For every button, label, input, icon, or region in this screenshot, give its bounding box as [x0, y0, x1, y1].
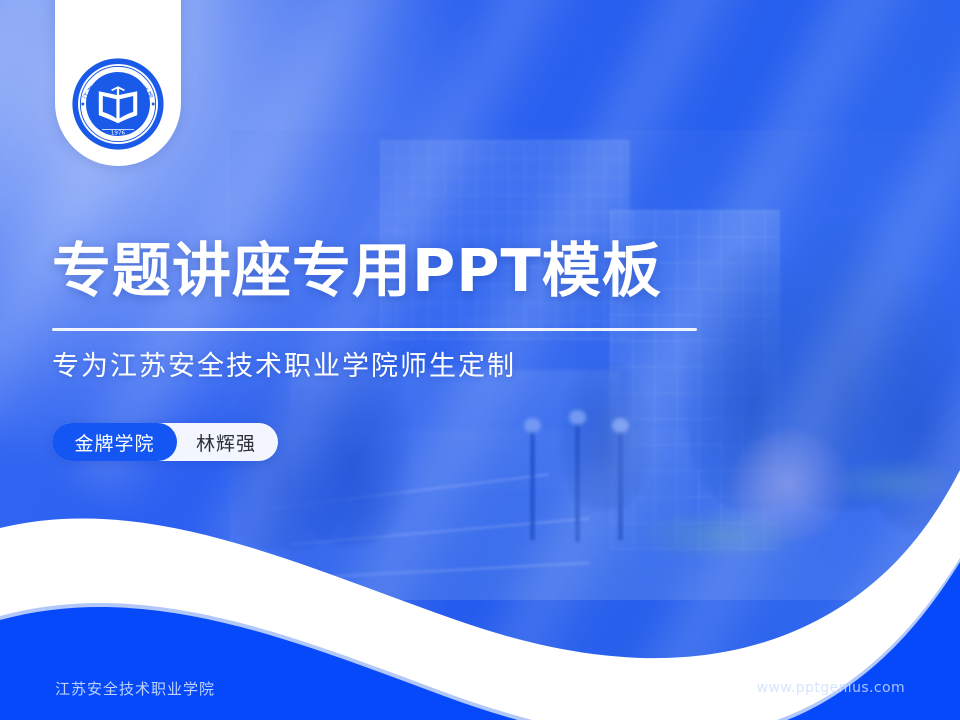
presentation-slide: 江苏安全技术职业学院 JIANGSU COLLEGE OF SAFETY TEC…: [0, 0, 960, 720]
school-logo-badge: 江苏安全技术职业学院 JIANGSU COLLEGE OF SAFETY TEC…: [55, 0, 181, 166]
footer-website-label: www.pptgenius.com: [757, 680, 905, 696]
page-subtitle: 专为江苏安全技术职业学院师生定制: [52, 344, 516, 383]
wave-decoration: [0, 430, 960, 720]
credit-badge: 金牌学院 林辉强: [52, 423, 278, 461]
page-title: 专题讲座专用PPT模板: [52, 240, 662, 303]
school-crest-icon: 江苏安全技术职业学院 JIANGSU COLLEGE OF SAFETY TEC…: [70, 56, 166, 152]
footer-institution-label: 江苏安全技术职业学院: [55, 678, 215, 699]
credit-author-name: 林辉强: [177, 429, 256, 456]
title-divider: [52, 328, 697, 331]
crest-year-text: 1976: [111, 130, 126, 136]
credit-tag-label: 金牌学院: [52, 423, 177, 461]
